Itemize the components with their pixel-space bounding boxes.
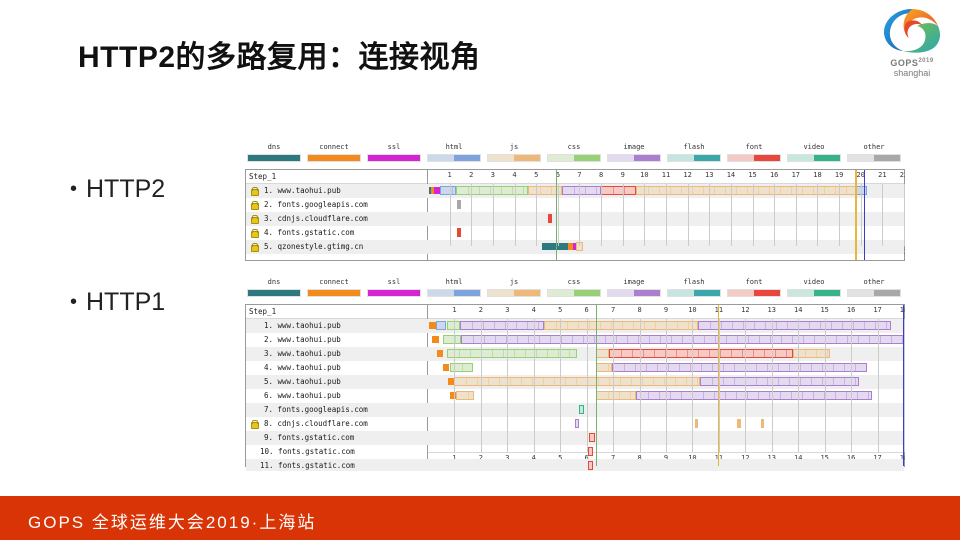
gridline — [774, 184, 775, 246]
waterfall-row[interactable]: 6. www.taohui.pub — [246, 389, 904, 403]
waterfall-segment-font — [589, 433, 594, 442]
logo-name: GOPS — [890, 58, 918, 68]
gridline — [825, 319, 826, 452]
legend-swatch — [487, 289, 541, 297]
gridline — [471, 184, 472, 246]
lock-icon — [250, 228, 258, 236]
legend-http2: dnsconnectsslhtmljscssimageflashfontvide… — [245, 143, 905, 169]
footer-text: GOPS 全球运维大会2019·上海站 — [28, 508, 316, 533]
axis-tick: 17 — [792, 171, 800, 179]
waterfall-segment-html — [440, 186, 456, 195]
row-number: 3. — [260, 212, 273, 226]
legend-item-image: image — [607, 143, 661, 162]
axis-tick: 12 — [683, 171, 691, 179]
lock-icon — [250, 200, 258, 208]
axis-top-http1: 123456789101112131415161718 — [428, 305, 904, 319]
legend-label: other — [847, 278, 901, 287]
axis-tick: 5 — [534, 171, 538, 179]
gridline — [481, 319, 482, 452]
legend-label: other — [847, 143, 901, 152]
request-label: 11. fonts.gstatic.com — [246, 459, 428, 471]
row-number: 2. — [260, 198, 273, 212]
request-host: cdnjs.cloudflare.com — [273, 214, 368, 223]
waterfall-grid-http2: Step_1 123456789101112131415161718192021… — [245, 169, 905, 261]
legend-item-ssl: ssl — [367, 143, 421, 162]
gridline — [692, 319, 693, 452]
waterfall-segment-font — [457, 228, 461, 237]
legend-item-html: html — [427, 143, 481, 162]
lock-icon — [250, 419, 258, 427]
waterfall-row[interactable]: 10. fonts.gstatic.com — [246, 445, 904, 459]
gridline — [772, 319, 773, 452]
logo-year: 2019 — [918, 58, 933, 64]
legend-label: css — [547, 143, 601, 152]
axis-tick: 18 — [813, 171, 821, 179]
gridline — [861, 184, 862, 246]
waterfall-segment-js — [737, 419, 740, 428]
request-host: fonts.googleapis.com — [273, 200, 368, 209]
waterfall-segment-image — [461, 335, 904, 344]
gridline — [878, 319, 879, 452]
gridline — [882, 184, 883, 246]
legend-swatch — [607, 154, 661, 162]
legend-item-css: css — [547, 143, 601, 162]
gridline — [623, 184, 624, 246]
legend-label: connect — [307, 143, 361, 152]
axis-tick: 19 — [835, 171, 843, 179]
axis-tick: 6 — [585, 306, 589, 314]
legend-label: flash — [667, 143, 721, 152]
step-label: Step_1 — [246, 305, 427, 319]
waterfall-segment-js — [636, 186, 857, 195]
waterfall-segment-font — [601, 186, 636, 195]
waterfall-row[interactable]: 5. qzonestyle.gtimg.cn — [246, 240, 904, 254]
row-number: 6. — [260, 389, 273, 403]
waterfall-segment-image — [460, 321, 545, 330]
bullet-http2: •HTTP2 — [70, 175, 165, 204]
waterfall-segment-js — [454, 377, 700, 386]
row-number: 7. — [260, 403, 273, 417]
request-host: fonts.gstatic.com — [274, 461, 355, 470]
axis-tick: 15 — [820, 306, 828, 314]
waterfall-rows-http1: 1. www.taohui.pub2. www.taohui.pub3. www… — [246, 319, 904, 452]
legend-swatch — [727, 289, 781, 297]
request-label: 3. www.taohui.pub — [246, 347, 428, 361]
gridline — [560, 319, 561, 452]
waterfall-grid-http1: Step_1 123456789101112131415161718 12345… — [245, 304, 905, 467]
slide: GOPS2019 shanghai HTTP2的多路复用：连接视角 •HTTP2… — [0, 0, 960, 540]
waterfall-segment-js — [596, 391, 636, 400]
axis-tick: 14 — [794, 306, 802, 314]
legend-item-flash: flash — [667, 278, 721, 297]
bullet-http1: •HTTP1 — [70, 288, 165, 317]
waterfall-segment-connect — [437, 350, 443, 357]
request-host: qzonestyle.gtimg.cn — [273, 242, 363, 251]
waterfall-segment-js — [544, 321, 697, 330]
axis-tick: 11 — [715, 306, 723, 314]
gops-logo-mark — [876, 6, 948, 56]
legend-label: image — [607, 278, 661, 287]
legend-swatch — [247, 289, 301, 297]
footer-bar: GOPS 全球运维大会2019·上海站 — [0, 496, 960, 540]
gridline — [796, 184, 797, 246]
axis-tick: 3 — [491, 171, 495, 179]
gridline — [798, 319, 799, 452]
waterfall-row[interactable]: 4. fonts.gstatic.com — [246, 226, 904, 240]
gridline — [579, 184, 580, 246]
axis-tick: 9 — [664, 306, 668, 314]
waterfall-row[interactable]: 11. fonts.gstatic.com — [246, 459, 904, 471]
legend-item-js: js — [487, 278, 541, 297]
request-label: 8. cdnjs.cloudflare.com — [246, 417, 428, 431]
waterfall-row[interactable]: 3. cdnjs.cloudflare.com — [246, 212, 904, 226]
axis-tick: 4 — [512, 171, 516, 179]
legend-swatch — [367, 154, 421, 162]
waterfall-segment-css — [456, 186, 527, 195]
request-host: fonts.gstatic.com — [274, 447, 355, 456]
gridline — [536, 184, 537, 246]
waterfall-segment-video — [579, 405, 584, 414]
legend-swatch — [547, 289, 601, 297]
gridline — [515, 184, 516, 246]
axis-tick: 1 — [452, 306, 456, 314]
axis-tick: 16 — [770, 171, 778, 179]
request-label: 3. cdnjs.cloudflare.com — [246, 212, 428, 226]
request-host: www.taohui.pub — [273, 349, 341, 358]
axis-tick: 13 — [768, 306, 776, 314]
step-label: Step_1 — [246, 170, 427, 184]
legend-item-dns: dns — [247, 143, 301, 162]
gridline — [493, 184, 494, 246]
axis-tick: 5 — [558, 306, 562, 314]
row-number: 11. — [260, 459, 274, 471]
waterfall-segment-image — [636, 391, 873, 400]
gridline — [753, 184, 754, 246]
request-label: 7. fonts.googleapis.com — [246, 403, 428, 417]
request-label: 10. fonts.gstatic.com — [246, 445, 428, 459]
row-number: 1. — [260, 319, 273, 333]
axis-tick: 2 — [469, 171, 473, 179]
row-number: 4. — [260, 226, 273, 240]
axis-tick: 2 — [479, 306, 483, 314]
waterfall-segment-image — [612, 363, 867, 372]
gridline — [745, 319, 746, 452]
gridline — [640, 319, 641, 452]
lock-icon — [250, 242, 258, 250]
gridline — [839, 184, 840, 246]
event-marker — [855, 170, 856, 260]
legend-item-ssl: ssl — [367, 278, 421, 297]
bullet-label: HTTP2 — [86, 175, 165, 203]
legend-item-video: video — [787, 278, 841, 297]
waterfall-segment-connect — [429, 322, 436, 329]
waterfall-row[interactable]: 1. www.taohui.pub — [246, 184, 904, 198]
waterfall-segment-js — [596, 363, 612, 372]
gridline — [719, 319, 720, 452]
row-number: 5. — [260, 375, 273, 389]
axis-tick: 15 — [748, 171, 756, 179]
waterfall-http1: dnsconnectsslhtmljscssimageflashfontvide… — [245, 278, 905, 471]
event-marker — [903, 305, 904, 466]
request-label: 4. www.taohui.pub — [246, 361, 428, 375]
legend-label: css — [547, 278, 601, 287]
waterfall-segment-image — [575, 419, 579, 428]
legend-label: flash — [667, 278, 721, 287]
gridline — [709, 184, 710, 246]
event-marker — [718, 305, 719, 466]
legend-label: dns — [247, 143, 301, 152]
axis-tick: 14 — [727, 171, 735, 179]
legend-swatch — [667, 289, 721, 297]
legend-label: html — [427, 143, 481, 152]
waterfall-row[interactable]: 4. www.taohui.pub — [246, 361, 904, 375]
waterfall-segment-image — [562, 186, 601, 195]
gridline — [666, 319, 667, 452]
axis-tick: 22 — [900, 171, 905, 179]
legend-item-font: font — [727, 143, 781, 162]
event-marker — [864, 170, 865, 260]
waterfall-segment-connect — [443, 364, 449, 371]
legend-swatch — [847, 289, 901, 297]
axis-tick: 21 — [878, 171, 886, 179]
legend-item-connect: connect — [307, 143, 361, 162]
waterfall-segment-js — [456, 391, 475, 400]
legend-swatch — [427, 154, 481, 162]
row-number: 3. — [260, 347, 273, 361]
waterfall-http2: dnsconnectsslhtmljscssimageflashfontvide… — [245, 143, 905, 265]
legend-item-font: font — [727, 278, 781, 297]
row-number: 10. — [260, 445, 274, 459]
axis-tick: 12 — [741, 306, 749, 314]
gridline — [587, 319, 588, 452]
gridline — [817, 184, 818, 246]
axis-tick: 13 — [705, 171, 713, 179]
legend-item-image: image — [607, 278, 661, 297]
gridline — [644, 184, 645, 246]
logo-city: shanghai — [876, 68, 948, 78]
legend-swatch — [547, 154, 601, 162]
axis-tick: 9 — [621, 171, 625, 179]
legend-swatch — [307, 289, 361, 297]
waterfall-row[interactable]: 7. fonts.googleapis.com — [246, 403, 904, 417]
legend-item-dns: dns — [247, 278, 301, 297]
legend-label: font — [727, 278, 781, 287]
waterfall-segment-font — [548, 214, 552, 223]
legend-label: connect — [307, 278, 361, 287]
waterfall-segment-html — [856, 186, 867, 195]
row-number: 4. — [260, 361, 273, 375]
axis-tick: 10 — [640, 171, 648, 179]
waterfall-segment-font — [609, 349, 793, 358]
waterfall-segment-js — [761, 419, 764, 428]
event-marker — [596, 305, 597, 466]
waterfall-row[interactable]: 8. cdnjs.cloudflare.com — [246, 417, 904, 431]
gridline — [613, 319, 614, 452]
legend-swatch — [607, 289, 661, 297]
request-label: 2. www.taohui.pub — [246, 333, 428, 347]
waterfall-row[interactable]: 1. www.taohui.pub — [246, 319, 904, 333]
waterfall-segment-font — [588, 461, 593, 470]
axis-tick: 16 — [847, 306, 855, 314]
axis-tick: 8 — [599, 171, 603, 179]
legend-item-css: css — [547, 278, 601, 297]
legend-http1: dnsconnectsslhtmljscssimageflashfontvide… — [245, 278, 905, 304]
axis-tick: 3 — [505, 306, 509, 314]
legend-item-other: other — [847, 278, 901, 297]
axis-tick: 10 — [688, 306, 696, 314]
axis-tick: 7 — [611, 306, 615, 314]
legend-swatch — [307, 154, 361, 162]
waterfall-segment-image — [698, 321, 891, 330]
legend-label: html — [427, 278, 481, 287]
axis-tick: 4 — [532, 306, 536, 314]
waterfall-rows-http2: 1. www.taohui.pub2. fonts.googleapis.com… — [246, 184, 904, 246]
legend-item-flash: flash — [667, 143, 721, 162]
request-label: 6. www.taohui.pub — [246, 389, 428, 403]
legend-label: ssl — [367, 278, 421, 287]
bullet-marker: • — [70, 178, 86, 201]
request-host: fonts.gstatic.com — [273, 433, 354, 442]
legend-item-html: html — [427, 278, 481, 297]
legend-label: font — [727, 143, 781, 152]
waterfall-segment-css — [443, 335, 462, 344]
row-number: 2. — [260, 333, 273, 347]
gridline — [904, 184, 905, 246]
legend-item-video: video — [787, 143, 841, 162]
request-host: www.taohui.pub — [273, 186, 341, 195]
axis-tick: 8 — [637, 306, 641, 314]
waterfall-segment-font — [588, 447, 593, 456]
row-number: 5. — [260, 240, 273, 254]
waterfall-segment-html — [436, 321, 447, 330]
request-label: 5. qzonestyle.gtimg.cn — [246, 240, 428, 254]
lock-icon — [250, 214, 258, 222]
axis-tick: 1 — [448, 171, 452, 179]
legend-label: js — [487, 278, 541, 287]
request-host: www.taohui.pub — [273, 335, 341, 344]
request-label: 4. fonts.gstatic.com — [246, 226, 428, 240]
axis-tick: 17 — [873, 306, 881, 314]
legend-swatch — [487, 154, 541, 162]
waterfall-row[interactable]: 2. fonts.googleapis.com — [246, 198, 904, 212]
request-label: 1. www.taohui.pub — [246, 319, 428, 333]
legend-swatch — [367, 289, 421, 297]
waterfall-segment-image — [700, 377, 859, 386]
gridline — [454, 319, 455, 452]
waterfall-row[interactable]: 9. fonts.gstatic.com — [246, 431, 904, 445]
gridline — [851, 319, 852, 452]
legend-label: js — [487, 143, 541, 152]
request-host: www.taohui.pub — [273, 321, 341, 330]
waterfall-row[interactable]: 2. www.taohui.pub — [246, 333, 904, 347]
waterfall-row[interactable]: 3. www.taohui.pub — [246, 347, 904, 361]
legend-swatch — [847, 154, 901, 162]
request-host: fonts.googleapis.com — [273, 405, 368, 414]
request-host: www.taohui.pub — [273, 391, 341, 400]
gridline — [558, 184, 559, 246]
legend-label: image — [607, 143, 661, 152]
legend-swatch — [667, 154, 721, 162]
gridline — [731, 184, 732, 246]
gridline — [688, 184, 689, 246]
legend-label: ssl — [367, 143, 421, 152]
legend-item-js: js — [487, 143, 541, 162]
bullet-label: HTTP1 — [86, 288, 165, 316]
legend-swatch — [787, 289, 841, 297]
row-number: 8. — [260, 417, 273, 431]
legend-swatch — [787, 154, 841, 162]
axis-tick: 7 — [577, 171, 581, 179]
gridline — [534, 319, 535, 452]
axis-top-http2: 12345678910111213141516171819202122 — [428, 170, 904, 184]
gridline — [507, 319, 508, 452]
event-marker — [556, 170, 557, 260]
gridline — [666, 184, 667, 246]
waterfall-segment-css — [447, 349, 578, 358]
waterfall-segment-css — [447, 321, 460, 330]
legend-swatch — [427, 289, 481, 297]
axis-tick: 11 — [662, 171, 670, 179]
row-number: 1. — [260, 184, 273, 198]
gridline — [904, 319, 905, 452]
legend-swatch — [727, 154, 781, 162]
request-host: www.taohui.pub — [273, 363, 341, 372]
waterfall-segment-connect — [432, 336, 439, 343]
legend-label: dns — [247, 278, 301, 287]
gridline — [601, 184, 602, 246]
request-host: www.taohui.pub — [273, 377, 341, 386]
request-host: fonts.gstatic.com — [273, 228, 354, 237]
bullet-marker: • — [70, 291, 86, 314]
waterfall-segment-js — [695, 419, 698, 428]
page-title: HTTP2的多路复用：连接视角 — [78, 32, 481, 76]
legend-item-other: other — [847, 143, 901, 162]
waterfall-segment-dns — [542, 243, 568, 250]
gridline — [450, 184, 451, 246]
request-label: 9. fonts.gstatic.com — [246, 431, 428, 445]
legend-label: video — [787, 143, 841, 152]
gops-logo: GOPS2019 shanghai — [876, 6, 948, 84]
legend-item-connect: connect — [307, 278, 361, 297]
lock-icon — [250, 186, 258, 194]
request-timeline — [428, 459, 904, 471]
legend-swatch — [247, 154, 301, 162]
request-label: 1. www.taohui.pub — [246, 184, 428, 198]
waterfall-segment-js — [596, 349, 609, 358]
waterfall-segment-connect — [448, 378, 454, 385]
request-label: 2. fonts.googleapis.com — [246, 198, 428, 212]
waterfall-segment-other — [457, 200, 461, 209]
legend-label: video — [787, 278, 841, 287]
request-label: 5. www.taohui.pub — [246, 375, 428, 389]
request-host: cdnjs.cloudflare.com — [273, 419, 368, 428]
waterfall-row[interactable]: 5. www.taohui.pub — [246, 375, 904, 389]
row-number: 9. — [260, 431, 273, 445]
